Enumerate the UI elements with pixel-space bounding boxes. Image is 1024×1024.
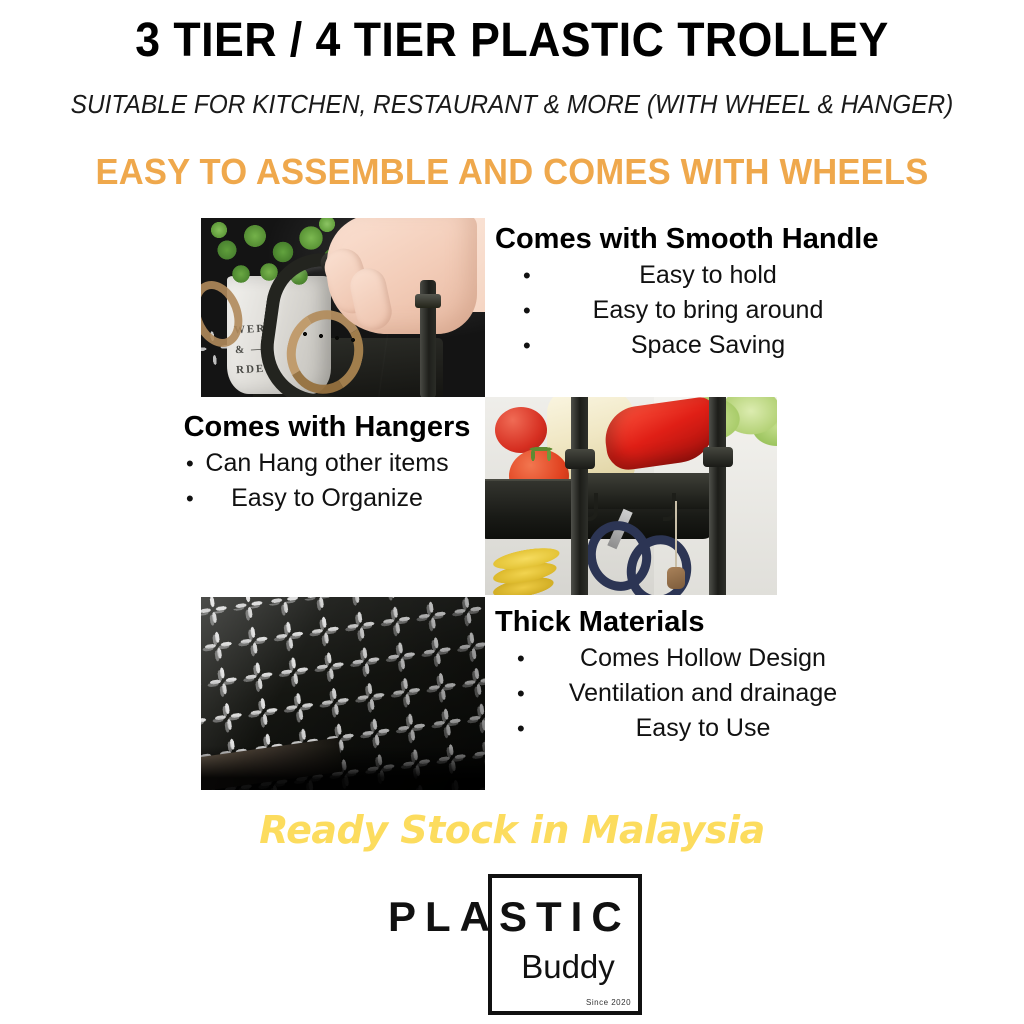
list-item-label: Easy to Use [636,714,771,742]
list-item: •Can Hang other items [168,446,486,481]
list-item: •Easy to hold [493,258,923,293]
page-title: 3 TIER / 4 TIER PLASTIC TROLLEY [36,12,988,70]
page-tagline: EASY TO ASSEMBLE AND COMES WITH WHEELS [20,150,1003,194]
list-item-label: Easy to hold [639,261,777,289]
list-item-label: Comes Hollow Design [580,644,826,672]
bullet-icon: • [517,711,525,746]
ready-stock-banner: Ready Stock in Malaysia [0,806,1024,854]
list-item: •Space Saving [493,328,923,363]
list-item-label: Easy to Organize [231,484,423,512]
hanging-string [675,501,677,569]
logo-wordmark-plastic: PLASTIC [388,894,638,940]
bullet-icon: • [523,293,531,328]
list-item-label: Easy to bring around [593,296,824,324]
brand-logo: PLASTIC Buddy Since 2020 [388,872,638,1014]
photo-thick-materials [201,597,485,790]
list-item: •Easy to Organize [168,481,486,516]
feature-bullet-list: •Comes Hollow Design •Ventilation and dr… [493,641,913,746]
feature-heading: Thick Materials [493,605,913,639]
photo-hangers [485,397,777,595]
feature-bullet-list: •Easy to hold •Easy to bring around •Spa… [493,258,923,363]
photo-smooth-handle: WER& —RDE [201,218,485,397]
trolley-post-clamp [703,447,733,467]
logo-wordmark-buddy: Buddy [502,948,634,986]
list-item: •Easy to Use [493,711,913,746]
list-item: •Easy to bring around [493,293,923,328]
shadow-overlay [201,746,485,790]
list-item: •Comes Hollow Design [493,641,913,676]
bullet-icon: • [517,676,525,711]
bullet-icon: • [186,481,194,516]
feature-hangers: Comes with Hangers •Can Hang other items… [168,410,486,516]
hanger-rail [581,473,715,509]
trolley-post-clamp [415,294,441,308]
bullet-icon: • [186,446,194,481]
feature-heading: Comes with Smooth Handle [493,222,923,256]
list-item-label: Ventilation and drainage [569,679,837,707]
trolley-post [571,397,588,595]
bullet-icon: • [517,641,525,676]
feature-heading: Comes with Hangers [168,410,486,444]
feature-bullet-list: •Can Hang other items •Easy to Organize [168,446,486,516]
list-item-label: Space Saving [631,331,785,359]
logo-since-text: Since 2020 [586,998,631,1008]
feature-smooth-handle: Comes with Smooth Handle •Easy to hold •… [493,222,923,363]
bullet-icon: • [523,328,531,363]
feature-thick-materials: Thick Materials •Comes Hollow Design •Ve… [493,605,913,746]
bullet-icon: • [523,258,531,293]
tomato-stem-icon [525,445,559,461]
trolley-post [709,397,726,595]
page-subtitle: SUITABLE FOR KITCHEN, RESTAURANT & MORE … [31,88,994,120]
hanging-item [667,567,685,589]
trolley-post-clamp [565,449,595,469]
list-item-label: Can Hang other items [205,449,448,477]
list-item: •Ventilation and drainage [493,676,913,711]
